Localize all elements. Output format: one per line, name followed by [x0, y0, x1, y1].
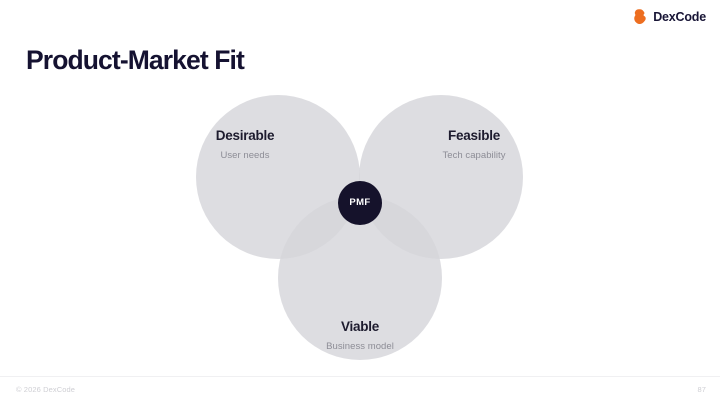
dexcode-blob-logo-icon: [632, 9, 648, 26]
venn-label-desirable: Desirable User needs: [216, 129, 275, 160]
venn-label-feasible-title: Feasible: [442, 129, 505, 143]
venn-core-label: PMF: [349, 198, 370, 208]
footer-copyright: © 2026 DexCode: [16, 386, 75, 394]
venn-circle-desirable: [196, 95, 360, 259]
venn-label-desirable-subtitle: User needs: [216, 151, 275, 161]
footer-divider: [0, 376, 720, 377]
page-title: Product-Market Fit: [26, 45, 244, 75]
venn-label-viable: Viable Business model: [326, 320, 394, 351]
footer-page-number: 87: [697, 386, 706, 394]
venn-circle-viable: [278, 196, 442, 360]
venn-label-viable-title: Viable: [326, 320, 394, 334]
brand-name: DexCode: [653, 11, 706, 24]
venn-label-feasible: Feasible Tech capability: [442, 129, 505, 160]
venn-label-viable-subtitle: Business model: [326, 342, 394, 352]
brand-logo: DexCode: [632, 9, 706, 26]
slide-canvas: DexCode Product-Market Fit Desirable Use…: [0, 0, 720, 405]
venn-label-desirable-title: Desirable: [216, 129, 275, 143]
venn-circle-feasible: [359, 95, 523, 259]
venn-core-badge-pmf: PMF: [338, 181, 382, 225]
venn-label-feasible-subtitle: Tech capability: [442, 151, 505, 161]
